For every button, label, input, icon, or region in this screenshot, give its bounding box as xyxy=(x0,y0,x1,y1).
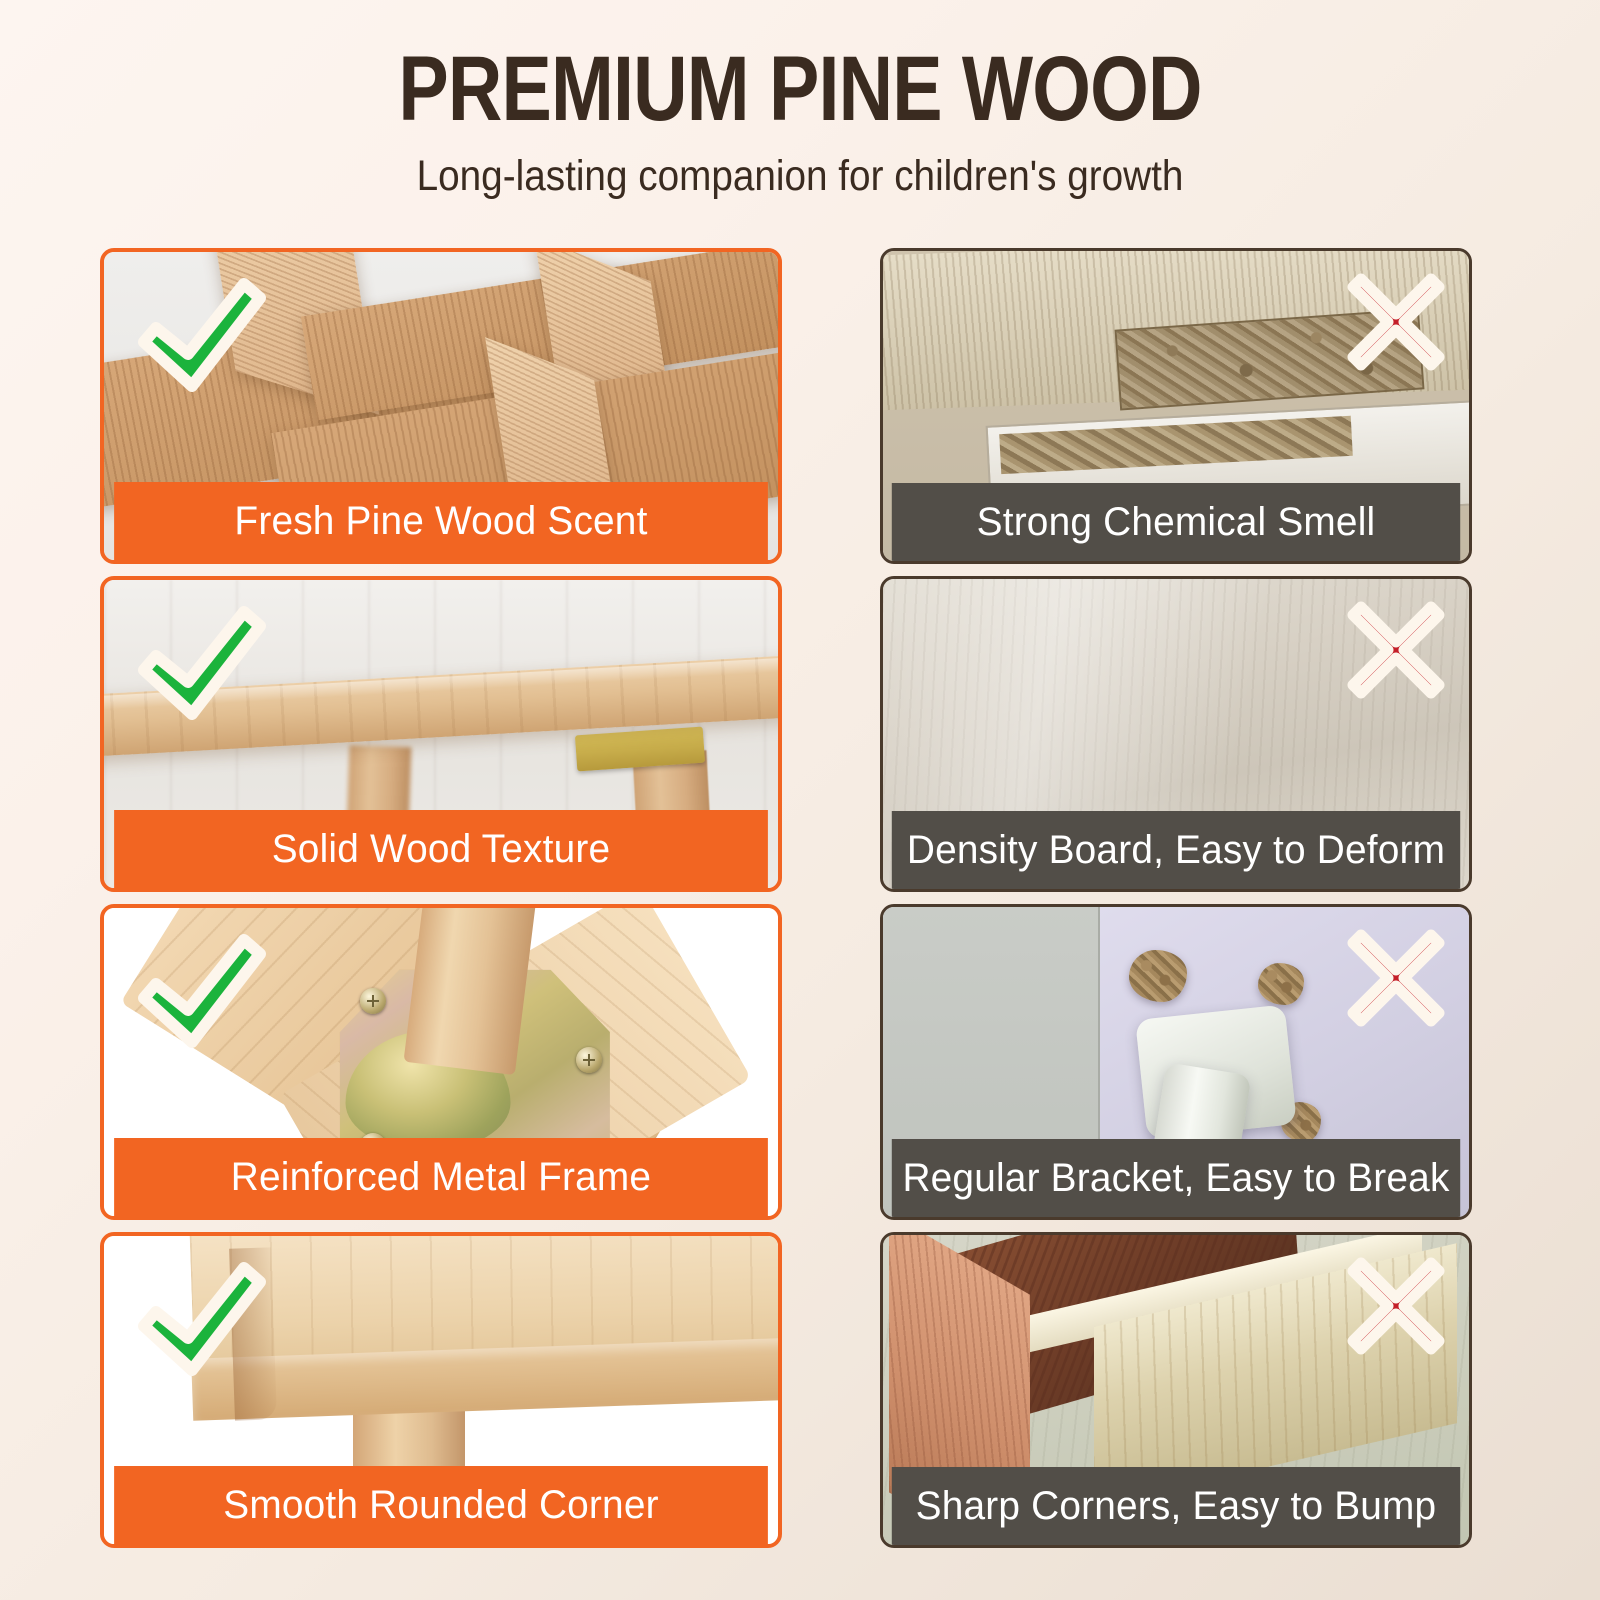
page-subtitle: Long-lasting companion for children's gr… xyxy=(80,152,1520,201)
feature-card-reinforced-metal-frame[interactable]: Reinforced Metal Frame xyxy=(100,904,782,1220)
card-caption: Smooth Rounded Corner xyxy=(114,1466,768,1544)
card-caption: Fresh Pine Wood Scent xyxy=(114,482,768,560)
feature-card-solid-wood-texture[interactable]: Solid Wood Texture xyxy=(100,576,782,892)
check-icon xyxy=(126,1254,276,1384)
header: PREMIUM PINE WOOD Long-lasting companion… xyxy=(0,0,1600,201)
card-caption: Strong Chemical Smell xyxy=(892,483,1460,561)
cross-icon xyxy=(1337,591,1455,709)
card-caption: Density Board, Easy to Deform xyxy=(892,811,1460,889)
infographic-page: PREMIUM PINE WOOD Long-lasting companion… xyxy=(0,0,1600,1600)
feature-card-fresh-pine-wood-scent[interactable]: Fresh Pine Wood Scent xyxy=(100,248,782,564)
card-caption: Solid Wood Texture xyxy=(114,810,768,888)
cross-icon xyxy=(1337,1247,1455,1365)
cross-icon xyxy=(1337,263,1455,381)
cross-icon xyxy=(1337,919,1455,1037)
card-caption: Sharp Corners, Easy to Bump xyxy=(892,1467,1460,1545)
page-title: PREMIUM PINE WOOD xyxy=(144,42,1456,138)
feature-card-strong-chemical-smell[interactable]: Strong Chemical Smell xyxy=(880,248,1472,564)
comparison-grid: Fresh Pine Wood Scent Strong Chemical Sm… xyxy=(100,248,1472,1548)
check-icon xyxy=(126,270,276,400)
feature-card-smooth-rounded-corner[interactable]: Smooth Rounded Corner xyxy=(100,1232,782,1548)
card-caption: Reinforced Metal Frame xyxy=(114,1138,768,1216)
feature-card-density-board-easy-to-deform[interactable]: Density Board, Easy to Deform xyxy=(880,576,1472,892)
feature-card-regular-bracket-easy-to-break[interactable]: Regular Bracket, Easy to Break xyxy=(880,904,1472,1220)
check-icon xyxy=(126,598,276,728)
card-caption: Regular Bracket, Easy to Break xyxy=(892,1139,1460,1217)
feature-card-sharp-corners-easy-to-bump[interactable]: Sharp Corners, Easy to Bump xyxy=(880,1232,1472,1548)
check-icon xyxy=(126,926,276,1056)
